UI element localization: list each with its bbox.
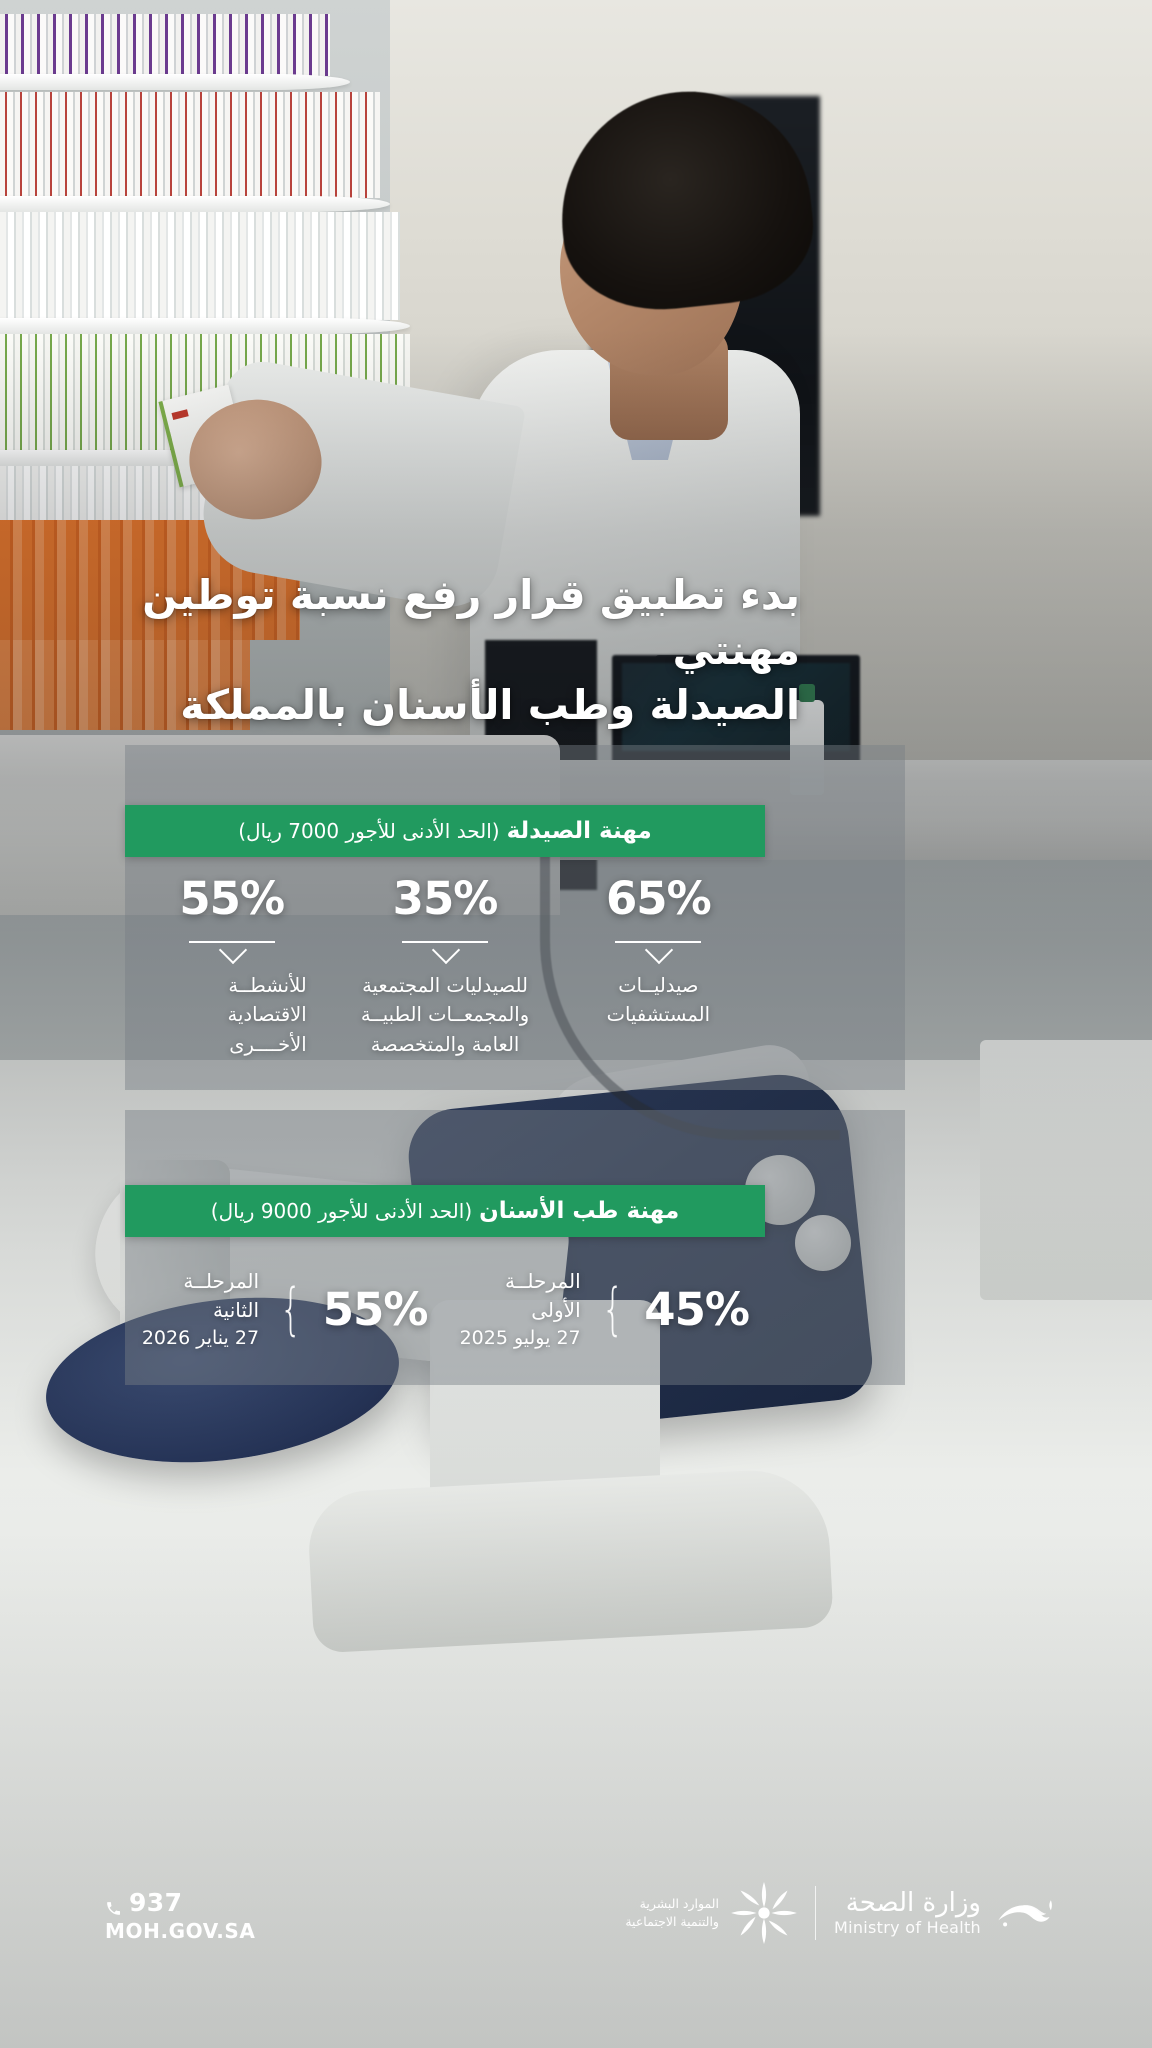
- chevron-down-icon: [402, 941, 488, 957]
- stat-description: للأنشطــة الاقتصادية الأخــــرى: [157, 971, 307, 1059]
- contact-block: 937 MOH.GOV.SA: [105, 1888, 256, 1943]
- phase-name: المرحلــة الثانية: [141, 1267, 259, 1325]
- pharmacy-section-banner: مهنة الصيدلة (الحد الأدنى للأجور 7000 ري…: [125, 805, 765, 857]
- dental-section-banner: مهنة طب الأسنان (الحد الأدنى للأجور 9000…: [125, 1185, 765, 1237]
- dental-banner-title: مهنة طب الأسنان: [479, 1198, 679, 1224]
- moh-wordmark: وزارة الصحة Ministry of Health: [834, 1889, 981, 1937]
- phone-icon: [105, 1894, 122, 1911]
- phase-text-block: المرحلــة الأولى 27 يوليو 2025: [459, 1267, 580, 1353]
- stat-community-pharmacies: 35% للصيدليات المجتمعية والمجمعــات الطب…: [338, 872, 551, 1087]
- hrsd-line-1: الموارد البشرية: [625, 1895, 719, 1913]
- poster-footer: 937 MOH.GOV.SA وزارة الصحة Ministry of H…: [0, 1878, 1152, 1978]
- phase-percentage: 45%: [644, 1283, 749, 1336]
- chevron-down-icon: [615, 941, 701, 957]
- phase-date: 27 يناير 2026: [141, 1325, 259, 1353]
- contact-phone-number: 937: [129, 1888, 182, 1917]
- stat-percentage: 55%: [179, 876, 284, 921]
- infographic-poster: بدء تطبيق قرار رفع نسبة توطين مهنتي الصي…: [0, 0, 1152, 2048]
- dental-banner-subtitle: (الحد الأدنى للأجور 9000 ريال): [211, 1199, 472, 1223]
- hrsd-wordmark: الموارد البشرية والتنمية الاجتماعية: [625, 1895, 719, 1931]
- moh-emblem-icon: [993, 1888, 1067, 1938]
- moh-logo: وزارة الصحة Ministry of Health: [834, 1888, 1067, 1938]
- chevron-down-icon: [189, 941, 275, 957]
- title-line-1: بدء تطبيق قرار رفع نسبة توطين مهنتي: [100, 568, 800, 678]
- brace-icon: }: [601, 1288, 623, 1333]
- contact-website: MOH.GOV.SA: [105, 1919, 256, 1943]
- logo-group: وزارة الصحة Ministry of Health: [625, 1882, 1067, 1944]
- dental-phase-one: 45% } المرحلــة الأولى 27 يوليو 2025: [443, 1267, 765, 1353]
- dental-phases-row: 45% } المرحلــة الأولى 27 يوليو 2025 55%…: [125, 1250, 765, 1370]
- stat-description: صيدليــات المستشفيات: [607, 971, 710, 1030]
- palm-star-icon: [731, 1882, 797, 1944]
- phase-date: 27 يوليو 2025: [459, 1325, 580, 1353]
- stat-other-economic-activities: 55% للأنشطــة الاقتصادية الأخــــرى: [125, 872, 338, 1087]
- stat-description: للصيدليات المجتمعية والمجمعــات الطبيــة…: [361, 971, 529, 1059]
- phase-percentage: 55%: [323, 1283, 428, 1336]
- phase-name: المرحلــة الأولى: [459, 1267, 580, 1325]
- contact-phone-row: 937: [105, 1888, 256, 1917]
- pharmacy-banner-title: مهنة الصيدلة: [507, 818, 652, 844]
- moh-name-english: Ministry of Health: [834, 1918, 981, 1937]
- pharmacy-banner-subtitle: (الحد الأدنى للأجور 7000 ريال): [238, 819, 499, 843]
- dental-phase-two: 55% } المرحلــة الثانية 27 يناير 2026: [125, 1267, 443, 1353]
- stat-percentage: 65%: [606, 876, 711, 921]
- stat-percentage: 35%: [393, 876, 498, 921]
- logo-divider: [815, 1886, 816, 1940]
- title-line-2: الصيدلة وطب الأسنان بالمملكة: [100, 678, 800, 733]
- phase-text-block: المرحلــة الثانية 27 يناير 2026: [141, 1267, 259, 1353]
- poster-title: بدء تطبيق قرار رفع نسبة توطين مهنتي الصي…: [100, 568, 800, 733]
- pharmacy-stats-row: 65% صيدليــات المستشفيات 35% للصيدليات ا…: [125, 872, 765, 1087]
- moh-name-arabic: وزارة الصحة: [834, 1889, 981, 1918]
- stat-hospital-pharmacies: 65% صيدليــات المستشفيات: [552, 872, 765, 1087]
- hrsd-line-2: والتنمية الاجتماعية: [625, 1913, 719, 1931]
- hrsd-logo: الموارد البشرية والتنمية الاجتماعية: [625, 1882, 797, 1944]
- brace-icon: }: [280, 1288, 302, 1333]
